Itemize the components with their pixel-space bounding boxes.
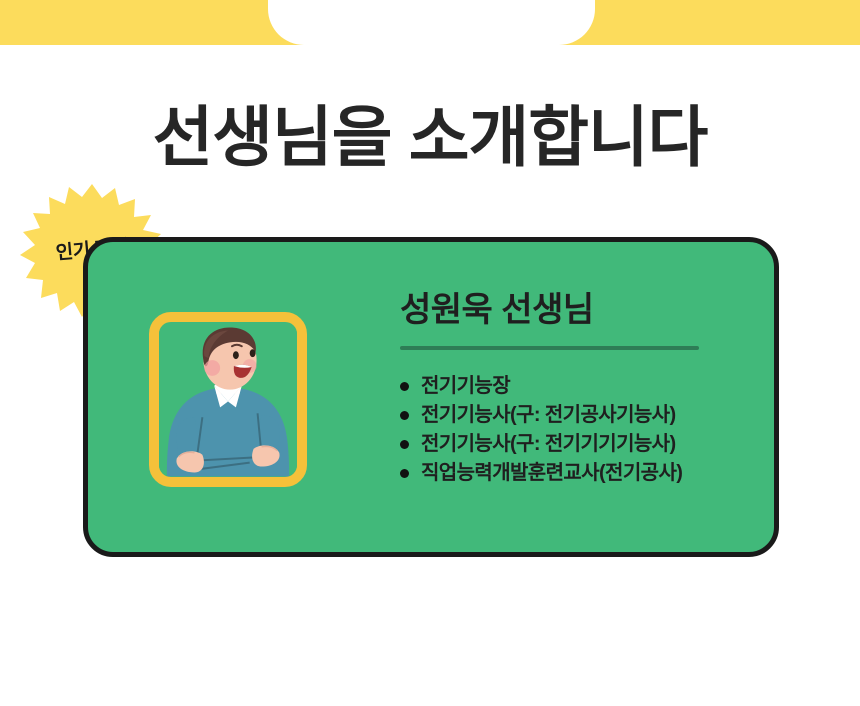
band-notch xyxy=(268,0,595,45)
bullet-icon xyxy=(400,440,409,449)
list-item: 전기기능사(구: 전기기기기능사) xyxy=(400,430,760,459)
credentials-list: 전기기능장 전기기능사(구: 전기공사기능사) 전기기능사(구: 전기기기기능사… xyxy=(400,372,760,488)
credential-label: 직업능력개발훈련교사(전기공사) xyxy=(421,459,682,488)
list-item: 전기기능장 xyxy=(400,372,760,401)
credential-label: 전기기능사(구: 전기기기기능사) xyxy=(421,430,676,459)
page-title: 선생님을 소개합니다 xyxy=(0,98,860,176)
teacher-card: 성원욱 선생님 전기기능장 전기기능사(구: 전기공사기능사) 전기기능사(구:… xyxy=(83,237,779,557)
list-item: 직업능력개발훈련교사(전기공사) xyxy=(400,459,760,488)
bullet-icon xyxy=(400,469,409,478)
list-item: 전기기능사(구: 전기공사기능사) xyxy=(400,401,760,430)
teacher-name: 성원욱 선생님 xyxy=(400,289,760,331)
credential-label: 전기기능장 xyxy=(421,372,510,401)
bullet-icon xyxy=(400,411,409,420)
name-divider xyxy=(400,346,699,350)
teacher-portrait-illustration xyxy=(159,322,297,477)
teacher-info-column: 성원욱 선생님 전기기능장 전기기능사(구: 전기공사기능사) 전기기능사(구:… xyxy=(400,289,760,488)
credential-label: 전기기능사(구: 전기공사기능사) xyxy=(421,401,676,430)
teacher-portrait-frame xyxy=(149,312,307,487)
top-yellow-band xyxy=(0,0,860,45)
bullet-icon xyxy=(400,382,409,391)
